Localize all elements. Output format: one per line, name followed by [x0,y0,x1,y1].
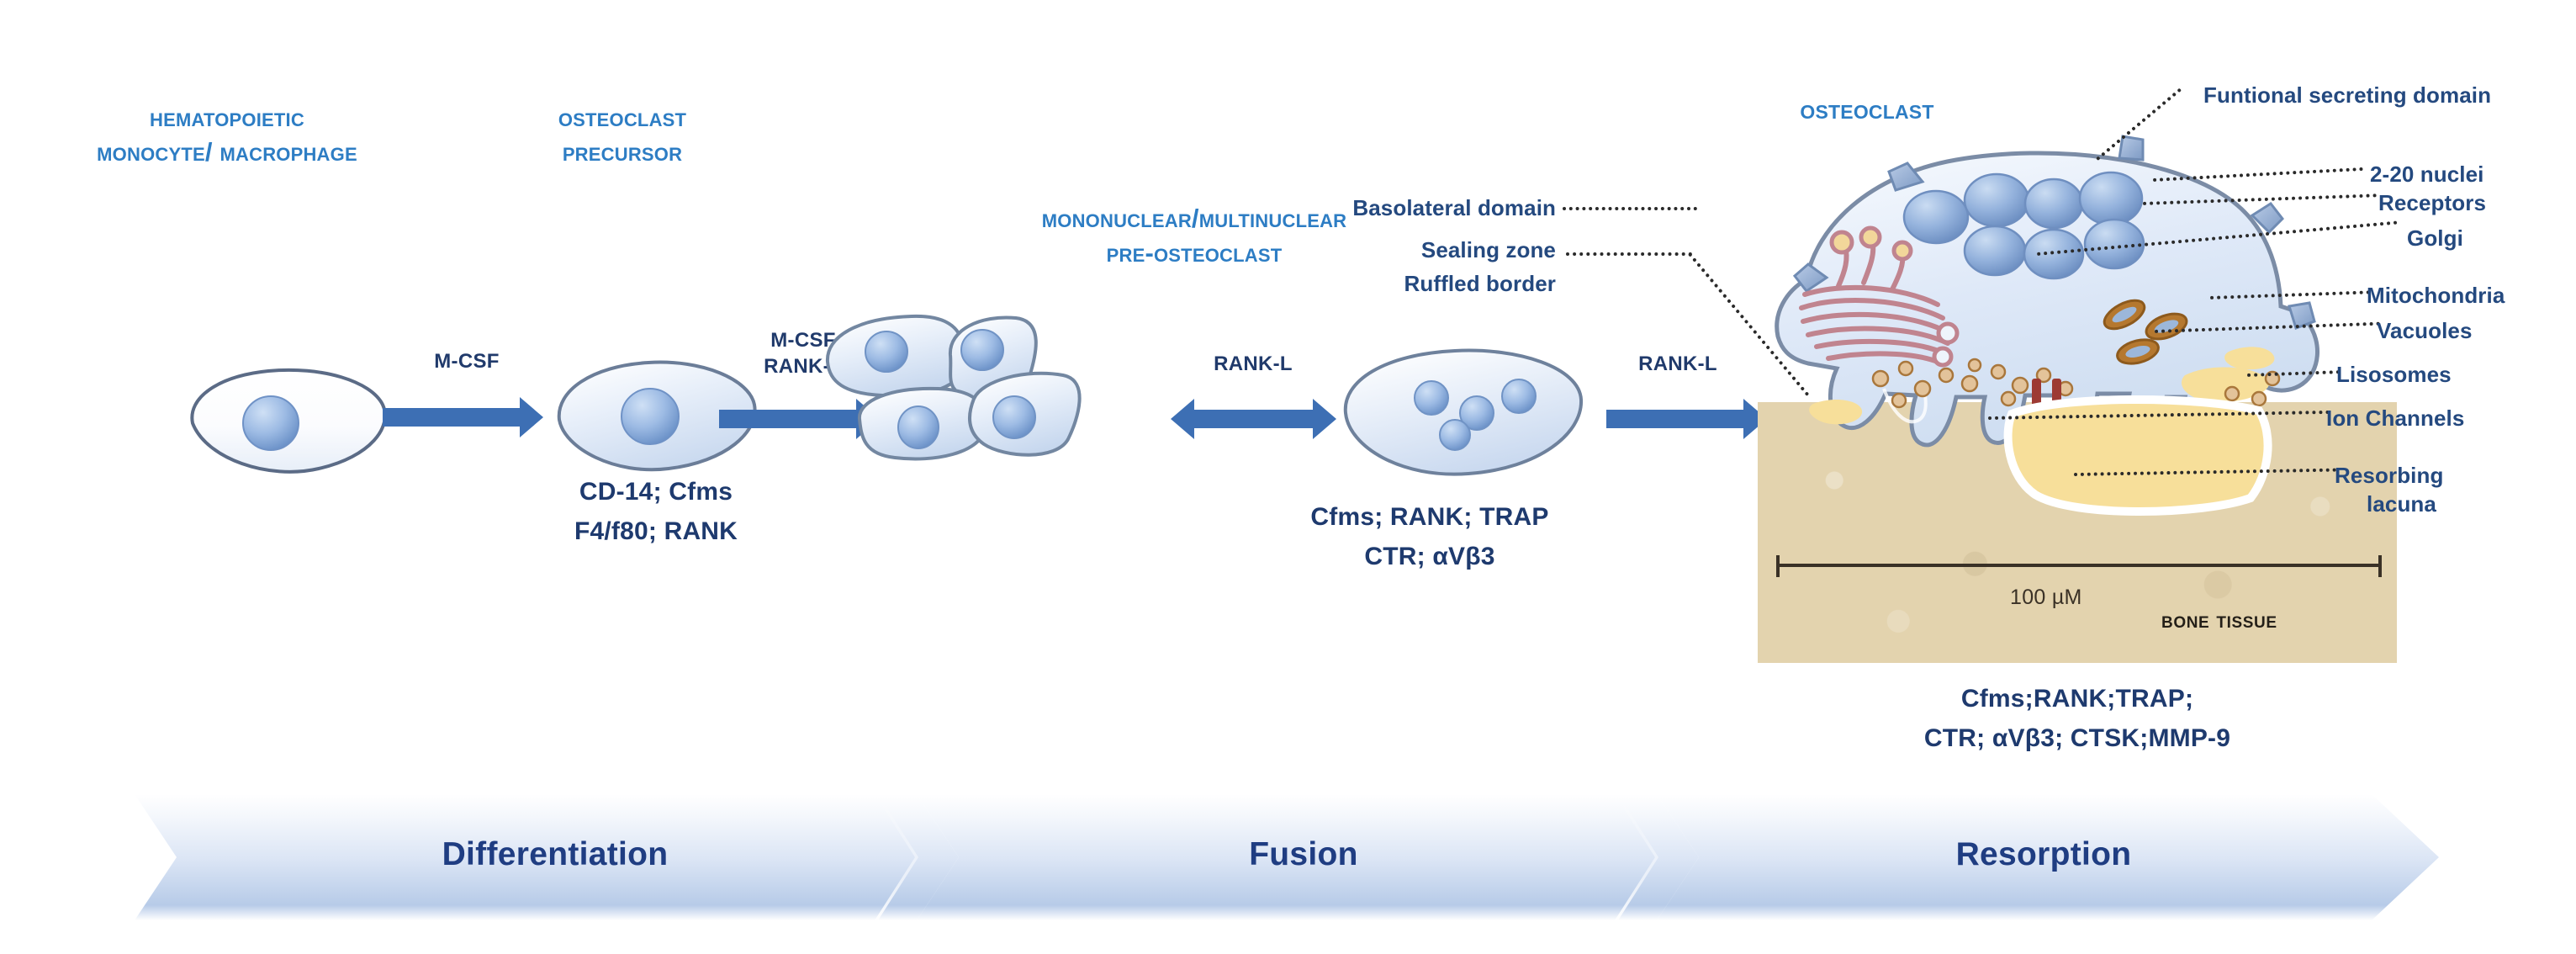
cytokine-label-rankl-resorption: RANK-L [1594,352,1762,378]
annotation-label: 2-20 nuclei [2370,162,2484,187]
leader-line-basolateral-domain [1563,207,1697,210]
stage-title-hematopoietic: Hematopoietic monocyte/ macrophage [50,101,404,170]
stage-title-line2: precursor [488,135,757,170]
banner-label-differentiation: Differentiation [320,836,791,873]
marker-osteoclast: Cfms;RANK;TRAP; CTR; αVβ3; CTSK;MMP-9 [1783,680,2372,758]
annotation-functional-secreting-domain: Funtional secreting domain [2203,82,2491,109]
marker-line2: CTR; αVβ3 [1211,538,1648,577]
annotation-label: Vacuoles [2377,318,2473,343]
annotation-golgi: Golgi [2407,225,2463,252]
annotation-receptors: Receptors [2378,190,2486,216]
stage-title-osteoclast: Osteoclast [1682,91,2052,128]
flow-arrow-1 [383,408,521,427]
marker-line1: Cfms; RANK; TRAP [1211,498,1648,538]
annotation-mitochondria: Mitochondria [2367,283,2505,309]
flow-arrow-3-bidirectional [1193,410,1314,428]
cytokine-text: RANK-L [1594,352,1762,378]
marker-line2: CTR; αVβ3; CTSK;MMP-9 [1783,719,2372,759]
annotation-label: Receptors [2378,190,2486,215]
marker-line1: CD-14; Cfms [492,473,820,512]
annotation-nuclei: 2-20 nuclei [2370,162,2484,188]
marker-preosteoclast: Cfms; RANK; TRAP CTR; αVβ3 [1211,498,1648,576]
scale-bar-cap-right [2378,555,2382,577]
marker-precursor: CD-14; Cfms F4/f80; RANK [492,473,820,551]
flow-arrow-4 [1606,410,1745,428]
annotation-sealing-zone: Sealing zone [1362,237,1556,263]
leader-line-sealing-zone [1566,252,1692,256]
cytokine-label-mcsf-1: M-CSF [383,349,551,375]
scale-bar [1776,555,2382,577]
cytokine-label-rankl-fusion: RANK-L [1169,352,1337,378]
annotation-label: Mitochondria [2367,283,2505,308]
stage-title-line1: Hematopoietic [50,101,404,135]
annotation-label-line1: Resorbing [2335,461,2443,490]
annotation-vacuoles: Vacuoles [2377,318,2473,344]
annotation-label: Sealing zone [1421,237,1556,262]
annotation-label: Funtional secreting domain [2203,82,2491,108]
marker-line2: F4/f80; RANK [492,512,820,552]
annotation-label: Lisosomes [2336,362,2452,387]
bone-tissue-label: Bone tissue [2161,607,2277,633]
annotation-ruffled-border: Ruffled border [1362,271,1556,297]
annotation-label: Golgi [2407,225,2463,251]
annotation-label: Basolateral domain [1352,195,1556,220]
cytokine-text: RANK-L [1169,352,1337,378]
annotation-resorbing-lacuna: Resorbing lacuna [2335,461,2443,519]
annotation-label: Ruffled border [1404,271,1556,296]
annotation-ion-channels: Ion Channels [2326,405,2464,432]
stage-title-line2: monocyte/ macrophage [50,135,404,170]
cell-hematopoietic-monocyte [181,358,399,484]
banner-label-fusion: Fusion [1068,836,1539,873]
annotation-label-line2: lacuna [2335,490,2443,518]
stage-title-precursor: Osteoclast precursor [488,101,757,170]
scale-bar-line [1776,564,2382,567]
annotation-basolateral-domain: Basolateral domain [1346,195,1556,221]
stage-title-line1: Osteoclast [488,101,757,135]
cytokine-text: M-CSF [383,349,551,375]
scale-bar-value: 100 µM [2010,586,2082,610]
banner-label-resorption: Resorption [1783,836,2304,873]
diagram-canvas: Hematopoietic monocyte/ macrophage Osteo… [0,0,2576,954]
cell-cluster-mononuclear [824,311,1177,505]
annotation-label: Ion Channels [2326,405,2464,431]
marker-line1: Cfms;RANK;TRAP; [1783,680,2372,719]
stage-title-line1: Osteoclast [1682,91,2052,128]
process-banner: Differentiation Fusion Resorption [135,794,2439,920]
cell-pre-osteoclast [1337,341,1590,492]
annotation-lisosomes: Lisosomes [2336,362,2452,388]
